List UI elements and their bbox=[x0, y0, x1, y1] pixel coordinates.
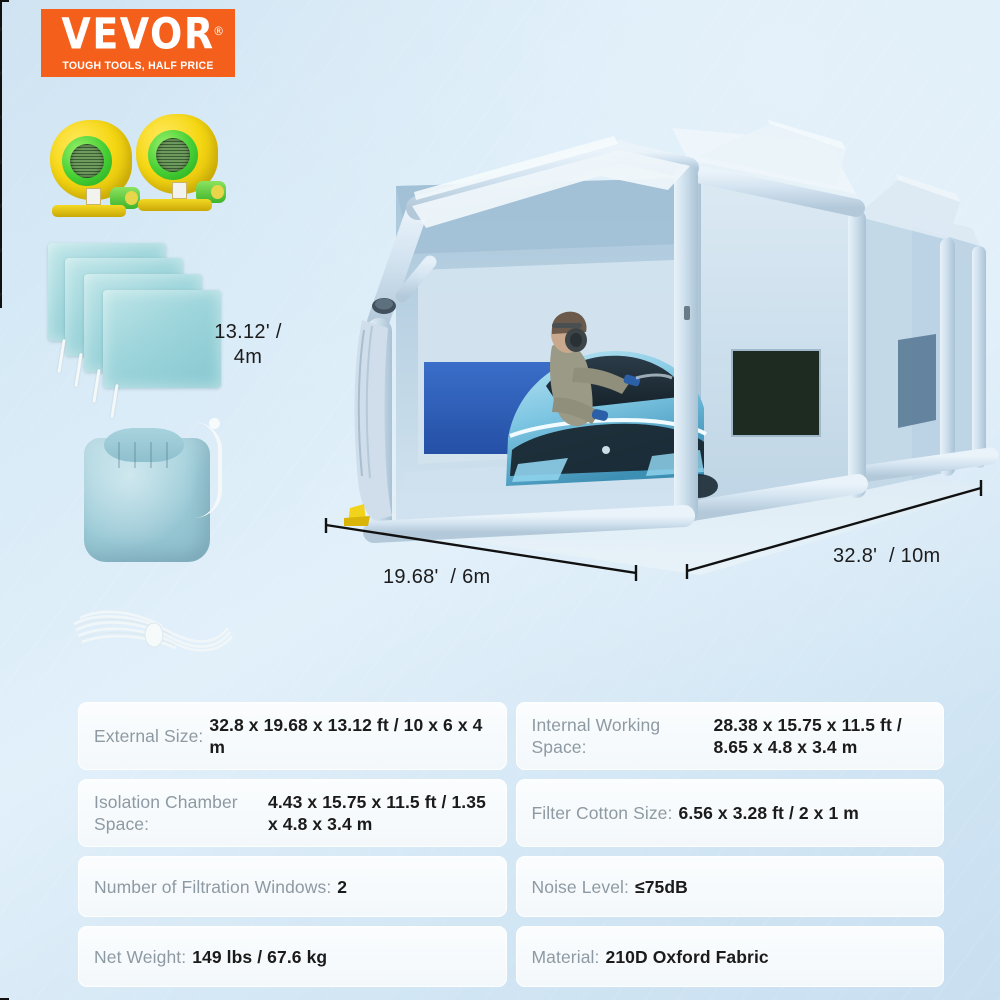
spec-value: 2 bbox=[337, 876, 492, 898]
spec-cell-filtration-windows: Number of Filtration Windows: 2 bbox=[78, 856, 507, 917]
spec-key: Net Weight: bbox=[94, 946, 192, 968]
spec-cell-filter-cotton-size: Filter Cotton Size: 6.56 x 3.28 ft / 2 x… bbox=[516, 779, 945, 847]
filter-tie bbox=[57, 339, 65, 373]
storage-bag-cord-tip bbox=[209, 418, 220, 429]
filtration-window-dark bbox=[732, 350, 820, 436]
storage-bag-drawstring bbox=[194, 422, 222, 518]
dimension-label-depth: 32.8' / 10m bbox=[833, 544, 940, 569]
spec-value: 149 lbs / 67.6 kg bbox=[192, 946, 492, 968]
spec-cell-internal-working-space: Internal Working Space: 28.38 x 15.75 x … bbox=[516, 702, 945, 770]
dimension-line-height bbox=[0, 0, 2, 308]
spec-key: External Size: bbox=[94, 725, 209, 747]
filter-sheet bbox=[103, 290, 221, 388]
brand-tagline: TOUGH TOOLS, HALF PRICE bbox=[62, 59, 213, 72]
filter-tie bbox=[92, 369, 100, 403]
brand-name: VEVOR bbox=[61, 9, 214, 58]
dimension-label-height: 13.12' / 4m bbox=[207, 320, 289, 370]
spec-cell-noise-level: Noise Level: ≤75dB bbox=[516, 856, 945, 917]
spec-cell-external-size: External Size: 32.8 x 19.68 x 13.12 ft /… bbox=[78, 702, 507, 770]
filter-tie bbox=[110, 384, 118, 418]
specification-table: External Size: 32.8 x 19.68 x 13.12 ft /… bbox=[78, 702, 944, 987]
blower-fan-left bbox=[46, 118, 138, 218]
spec-cell-material: Material: 210D Oxford Fabric bbox=[516, 926, 945, 987]
spec-value: 210D Oxford Fabric bbox=[606, 946, 930, 968]
dimension-label-width: 19.68' / 6m bbox=[383, 565, 490, 590]
spec-value: ≤75dB bbox=[635, 876, 930, 898]
registered-trademark-icon: ® bbox=[213, 12, 226, 50]
spec-cell-isolation-chamber-space: Isolation Chamber Space: 4.43 x 15.75 x … bbox=[78, 779, 507, 847]
spec-cell-net-weight: Net Weight: 149 lbs / 67.6 kg bbox=[78, 926, 507, 987]
spec-value: 32.8 x 19.68 x 13.12 ft / 10 x 6 x 4 m bbox=[209, 714, 492, 758]
accessory-filter-cotton bbox=[48, 243, 233, 408]
blower-base bbox=[138, 199, 212, 211]
spec-key: Isolation Chamber Space: bbox=[94, 791, 268, 835]
spec-key: Number of Filtration Windows: bbox=[94, 876, 337, 898]
storage-bag-neck bbox=[104, 428, 184, 462]
blower-fan-right bbox=[132, 112, 224, 212]
blower-label bbox=[172, 182, 187, 199]
spec-key: Noise Level: bbox=[532, 876, 636, 898]
blower-grill-icon bbox=[156, 138, 190, 172]
infographic-page: VEVOR ® TOUGH TOOLS, HALF PRICE bbox=[0, 0, 1000, 1000]
brand-wordmark: VEVOR ® bbox=[61, 12, 214, 55]
accessory-blower-fans bbox=[46, 112, 236, 212]
blower-grill-icon bbox=[70, 144, 104, 178]
spec-value: 6.56 x 3.28 ft / 2 x 1 m bbox=[678, 802, 930, 824]
spec-value: 4.43 x 15.75 x 11.5 ft / 1.35 x 4.8 x 3.… bbox=[268, 791, 493, 835]
spec-key: Material: bbox=[532, 946, 606, 968]
spec-value: 28.38 x 15.75 x 11.5 ft / 8.65 x 4.8 x 3… bbox=[714, 714, 931, 758]
vevor-logo: VEVOR ® TOUGH TOOLS, HALF PRICE bbox=[41, 9, 235, 77]
filter-tie bbox=[74, 353, 82, 387]
blower-label bbox=[86, 188, 101, 205]
accessory-rope-bundle bbox=[66, 598, 236, 668]
blower-base bbox=[52, 205, 126, 217]
spec-key: Filter Cotton Size: bbox=[532, 802, 679, 824]
accessory-storage-bag bbox=[78, 418, 228, 566]
spec-key: Internal Working Space: bbox=[532, 714, 714, 758]
